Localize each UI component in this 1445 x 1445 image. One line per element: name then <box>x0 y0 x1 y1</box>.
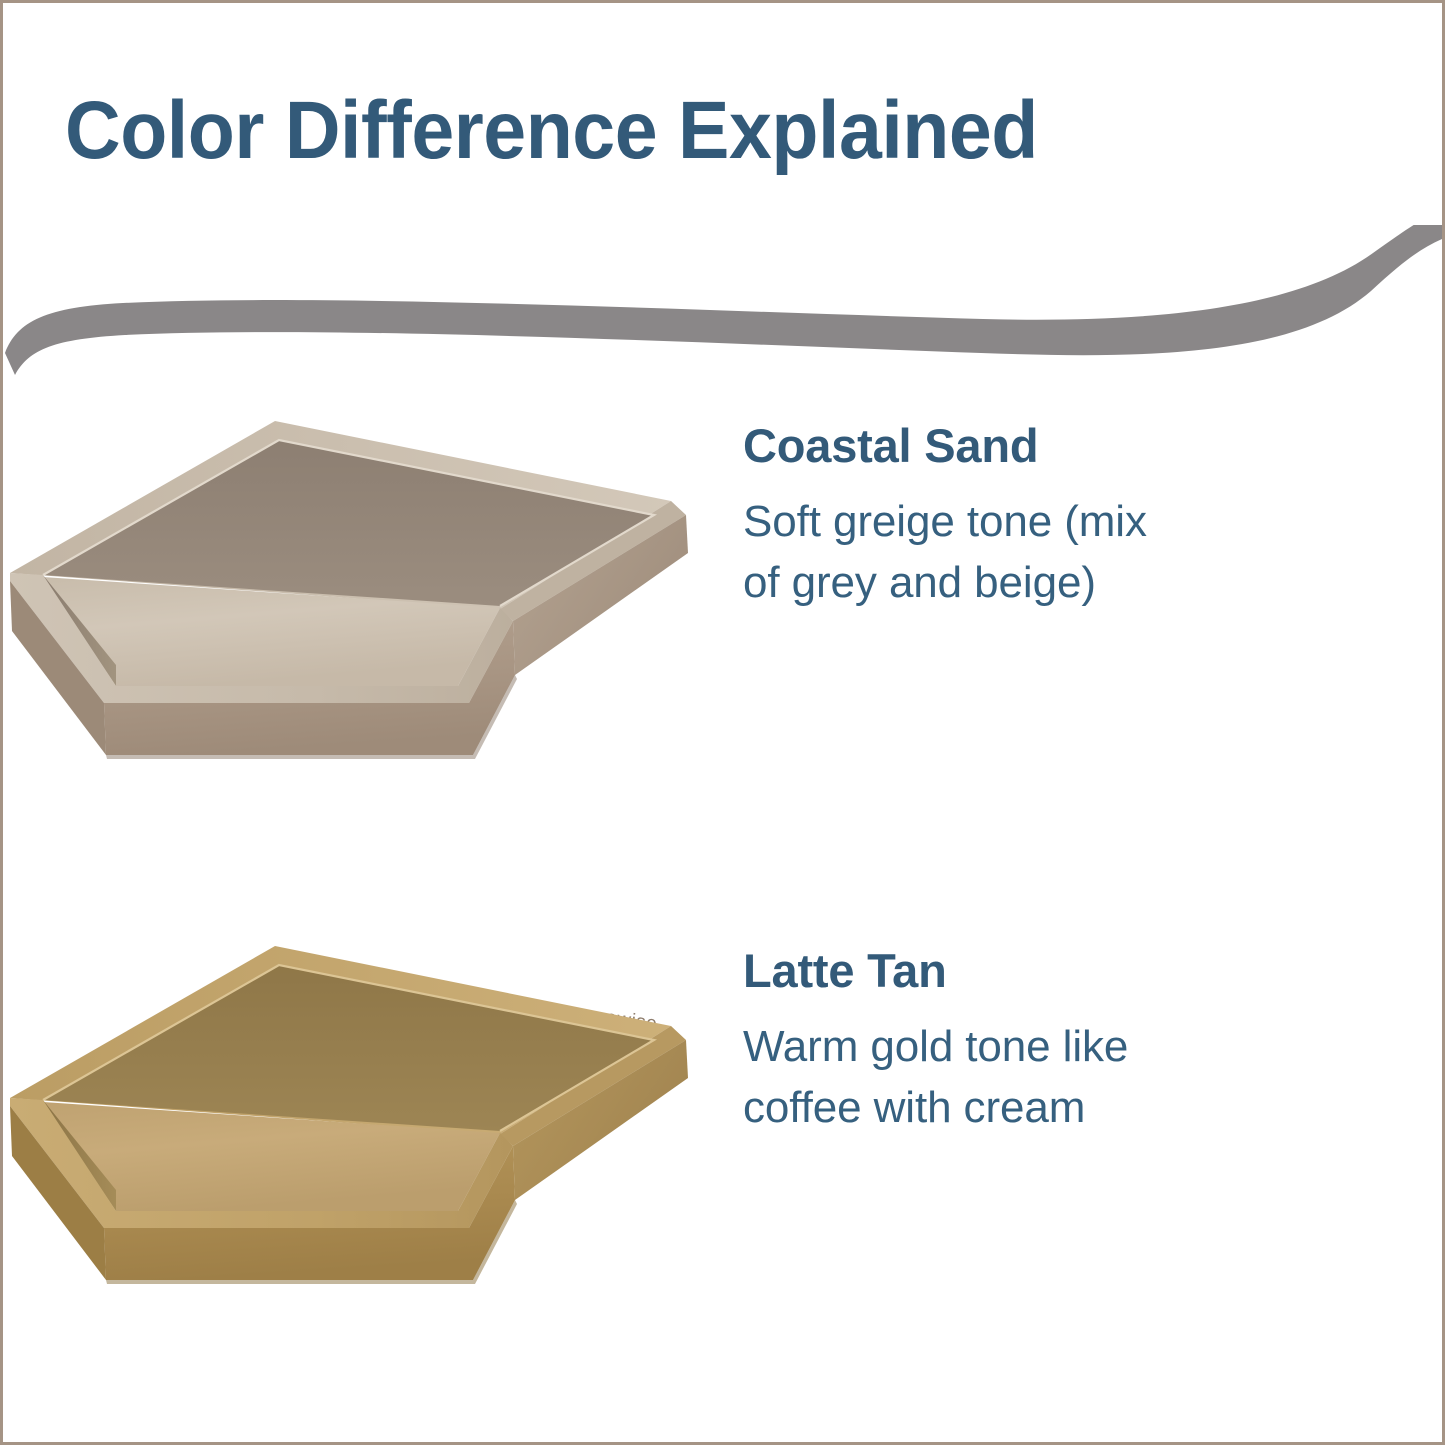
swatch-text-latte-tan: Latte Tan Warm gold tone like coffee wit… <box>743 928 1193 1139</box>
tray-image-latte-tan: spacewise <box>3 928 743 1318</box>
swatch-description-coastal-sand: Soft greige tone (mix of grey and beige) <box>743 492 1193 613</box>
swatch-name-coastal-sand: Coastal Sand <box>743 421 1193 470</box>
infographic-page: Color Difference Explained <box>0 0 1445 1445</box>
swatch-text-coastal-sand: Coastal Sand Soft greige tone (mix of gr… <box>743 403 1193 614</box>
page-title: Color Difference Explained <box>65 89 1038 173</box>
curved-swoosh-divider <box>3 225 1442 375</box>
swoosh-path <box>5 225 1442 375</box>
swatch-name-latte-tan: Latte Tan <box>743 946 1193 995</box>
swatch-row-coastal-sand: spacewise Coastal Sand Soft greige tone … <box>3 403 1193 793</box>
swatch-description-latte-tan: Warm gold tone like coffee with cream <box>743 1017 1193 1138</box>
tray-image-coastal-sand: spacewise <box>3 403 743 793</box>
swatch-row-latte-tan: spacewise Latte Tan Warm gold tone like … <box>3 928 1193 1318</box>
